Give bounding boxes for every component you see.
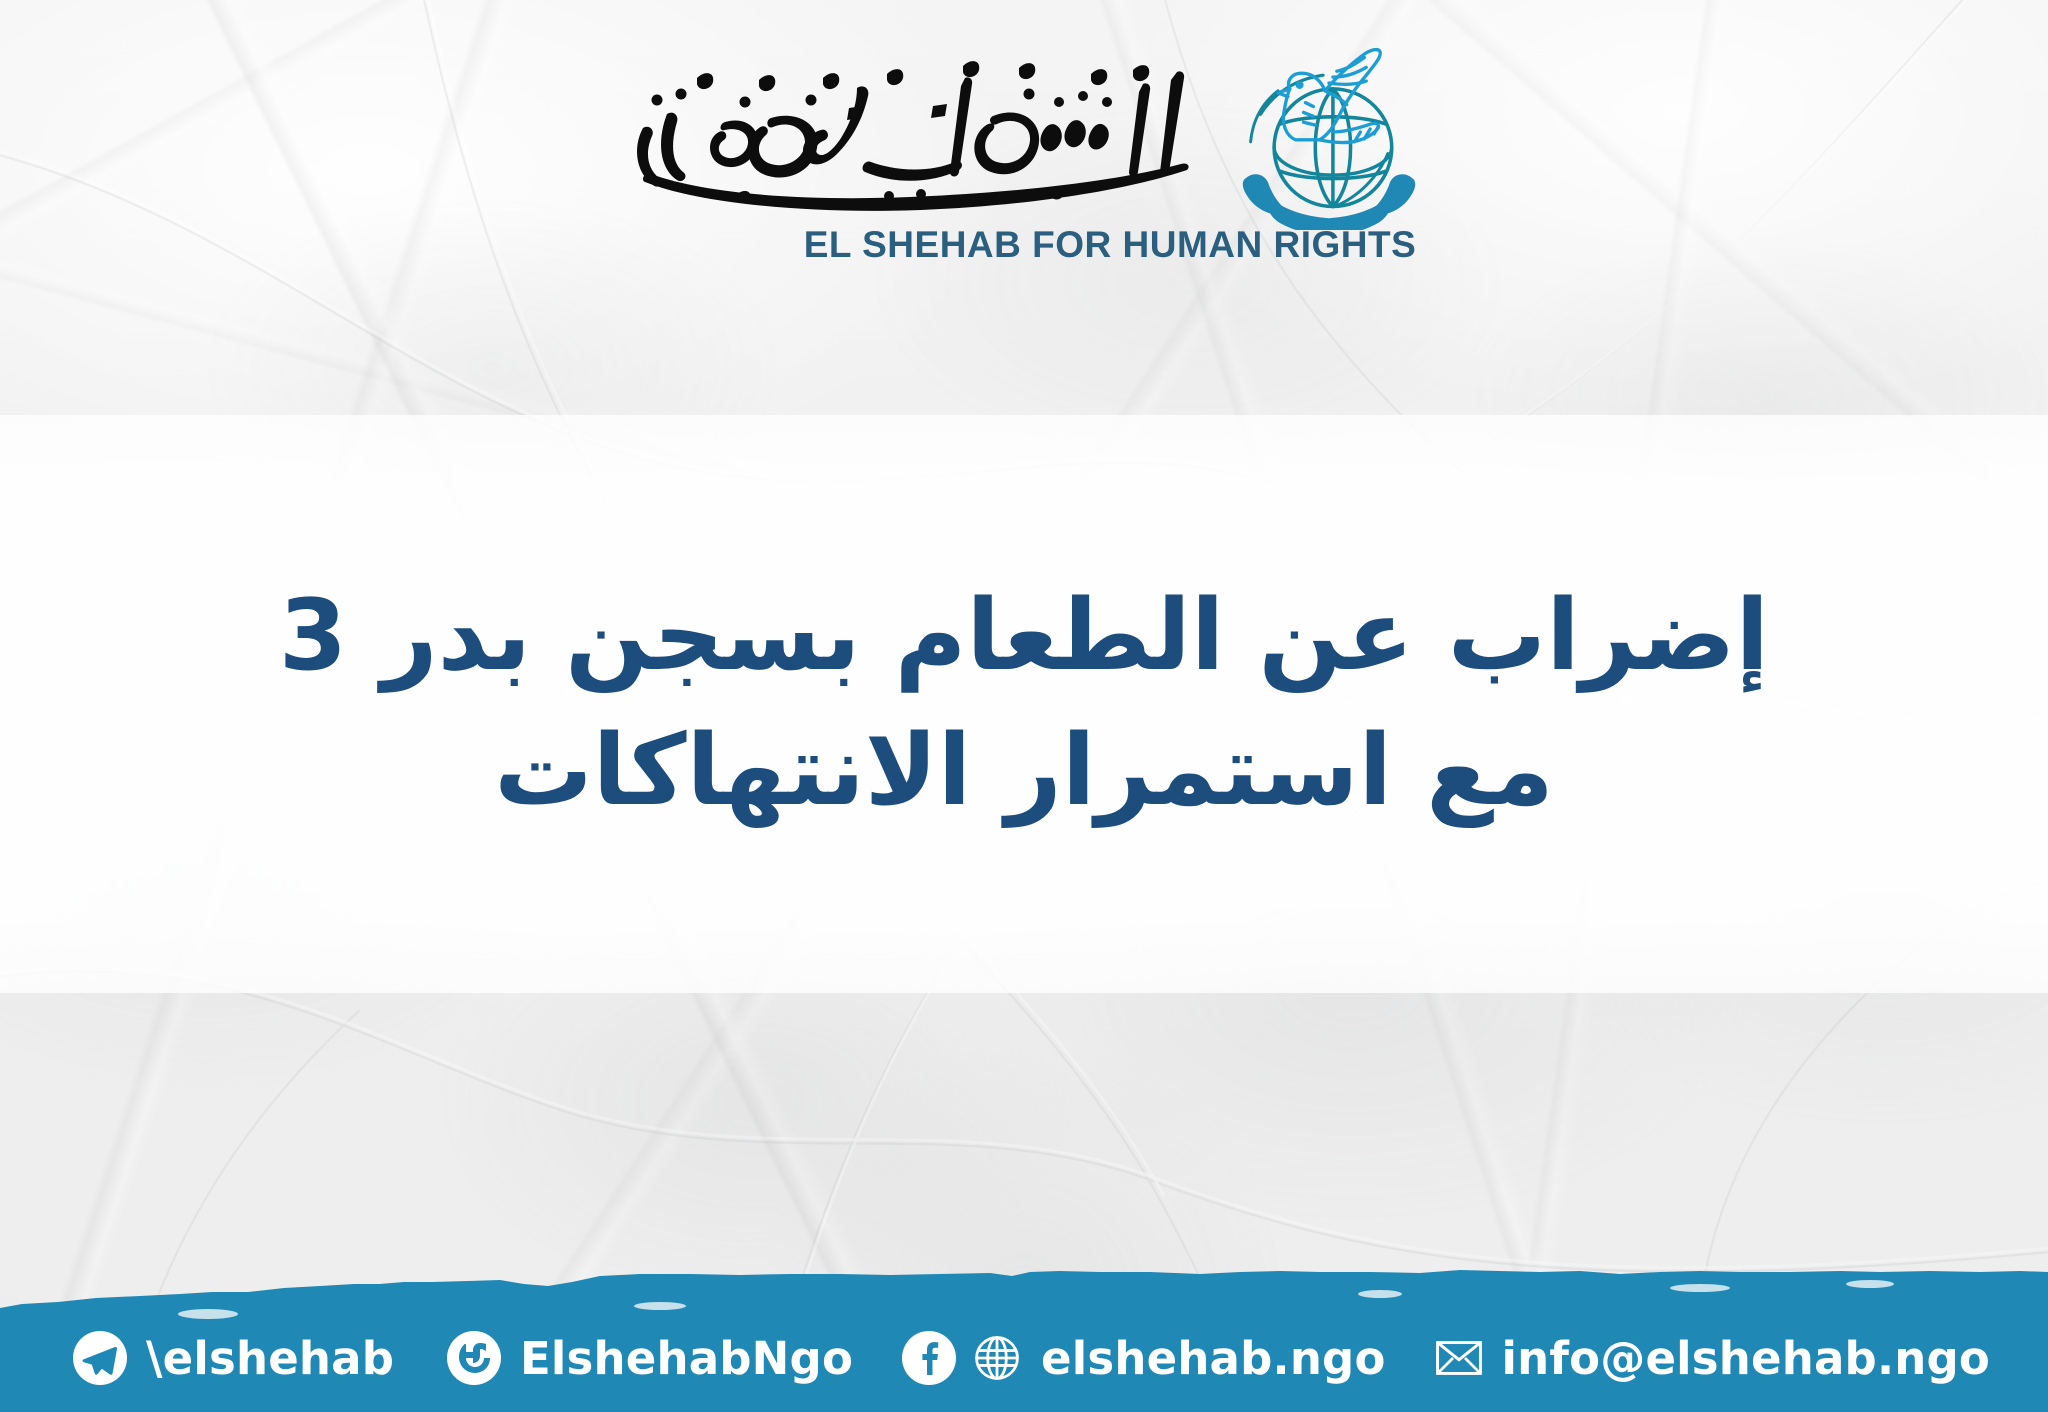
logo-arabic-calligraphy — [621, 44, 1221, 220]
email-envelope-icon[interactable] — [1435, 1334, 1483, 1382]
logo-row — [621, 34, 1427, 230]
website-icon-group — [901, 1330, 1023, 1386]
headline-block: إضراب عن الطعام بسجن بدر 3 مع استمرار ال… — [0, 415, 2048, 993]
footer-item-twitter[interactable]: ElshehabNgo — [446, 1330, 853, 1386]
footer-label-telegram: \elshehab — [146, 1332, 394, 1385]
globe-icon[interactable] — [971, 1332, 1023, 1384]
footer-bar: \elshehab ElshehabNgo — [0, 1262, 2048, 1412]
footer-label-website: elshehab.ngo — [1041, 1332, 1386, 1385]
footer-label-twitter: ElshehabNgo — [520, 1332, 853, 1385]
telegram-icon[interactable] — [72, 1330, 128, 1386]
facebook-icon[interactable] — [901, 1330, 957, 1386]
footer-contact-list: \elshehab ElshehabNgo — [0, 1304, 2048, 1412]
footer-item-telegram[interactable]: \elshehab — [72, 1330, 394, 1386]
poster-canvas: EL SHEHAB FOR HUMAN RIGHTS إضراب عن الطع… — [0, 0, 2048, 1412]
footer-item-email[interactable]: info@elshehab.ngo — [1435, 1332, 1990, 1385]
footer-item-website[interactable]: elshehab.ngo — [901, 1330, 1386, 1386]
brand-logo: EL SHEHAB FOR HUMAN RIGHTS — [0, 34, 2048, 266]
footer-label-email: info@elshehab.ngo — [1501, 1332, 1990, 1385]
headline-line-2: مع استمرار الانتهاكات — [494, 708, 1554, 835]
twitter-icon[interactable] — [446, 1330, 502, 1386]
headline-line-1: إضراب عن الطعام بسجن بدر 3 — [279, 573, 1769, 700]
logo-english-name: EL SHEHAB FOR HUMAN RIGHTS — [804, 224, 1417, 266]
logo-emblem — [1231, 34, 1427, 230]
